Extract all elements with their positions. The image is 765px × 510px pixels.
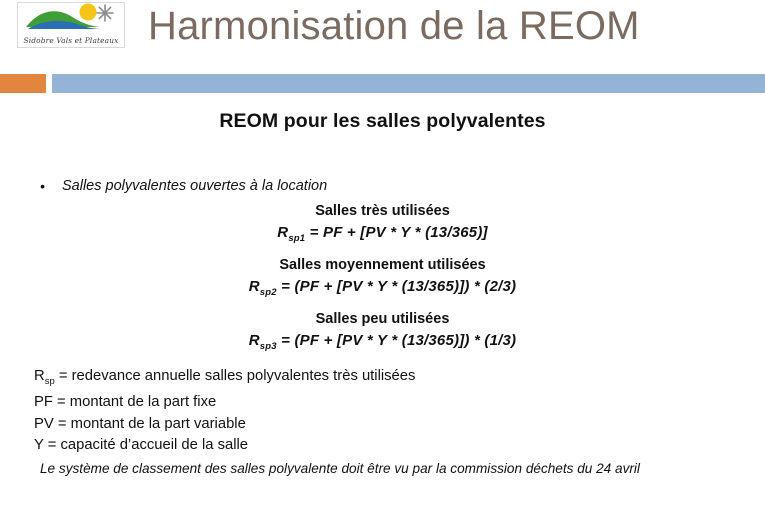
formula-body: = (PF + [PV * Y * (13/365)]) * (2/3) [277,278,516,295]
definition-item: Y = capacité d’accueil de la salle [34,435,765,457]
bullet-item: • Salles polyvalentes ouvertes à la loca… [0,176,765,196]
definition-subscript: sp [45,376,55,387]
group-heading: Salles moyennement utilisées [0,254,765,276]
definition-item: PF = montant de la part fixe [34,392,765,414]
bullet-text: Salles polyvalentes ouvertes à la locati… [62,176,327,196]
formula-subscript: sp3 [260,341,277,352]
definition-text: = redevance annuelle salles polyvalentes… [55,368,416,384]
bullet-marker-icon: • [40,176,45,196]
definition-item: Rsp = redevance annuelle salles polyvale… [34,366,765,392]
definition-item: PV = montant de la part variable [34,414,765,436]
slide-content: • Salles polyvalentes ouvertes à la loca… [0,176,765,479]
definitions-list: Rsp = redevance annuelle salles polyvale… [0,366,765,457]
definition-text: = montant de la part fixe [53,394,216,410]
formula-symbol: R [249,278,260,295]
definition-symbol: PF [34,394,53,410]
definition-symbol: R [34,368,45,384]
formula-symbol: R [277,224,288,241]
group-heading: Salles peu utilisées [0,308,765,330]
formula-group: Salles très utilisées Rsp1 = PF + [PV * … [0,200,765,250]
logo-landscape-icon [18,3,124,33]
formula-body: = PF + [PV * Y * (13/365)] [305,224,487,241]
definition-text: = montant de la part variable [54,416,246,432]
definition-text: = capacité d’accueil de la salle [44,437,248,453]
formula-symbol: R [249,332,260,349]
slide: Sidobre Vals et Plateaux Harmonisation d… [0,0,765,510]
accent-bar-orange [0,74,46,93]
section-subtitle: REOM pour les salles polyvalentes [0,110,765,133]
definition-symbol: Y [34,437,44,453]
snowflake-icon [97,5,113,21]
definition-symbol: PV [34,416,54,432]
formula-expression: Rsp3 = (PF + [PV * Y * (13/365)]) * (1/3… [0,330,765,358]
formula-expression: Rsp2 = (PF + [PV * Y * (13/365)]) * (2/3… [0,276,765,304]
formula-expression: Rsp1 = PF + [PV * Y * (13/365)] [0,222,765,250]
formula-group: Salles peu utilisées Rsp3 = (PF + [PV * … [0,308,765,358]
formula-body: = (PF + [PV * Y * (13/365)]) * (1/3) [277,332,516,349]
logo-caption: Sidobre Vals et Plateaux [18,36,124,45]
formula-subscript: sp1 [288,233,305,244]
page-title: Harmonisation de la REOM [148,4,640,49]
group-heading: Salles très utilisées [0,200,765,222]
organization-logo: Sidobre Vals et Plateaux [17,2,125,48]
formula-subscript: sp2 [260,287,277,298]
formula-group: Salles moyennement utilisées Rsp2 = (PF … [0,254,765,304]
accent-bar-blue [52,74,765,93]
footnote: Le système de classement des salles poly… [0,459,765,479]
